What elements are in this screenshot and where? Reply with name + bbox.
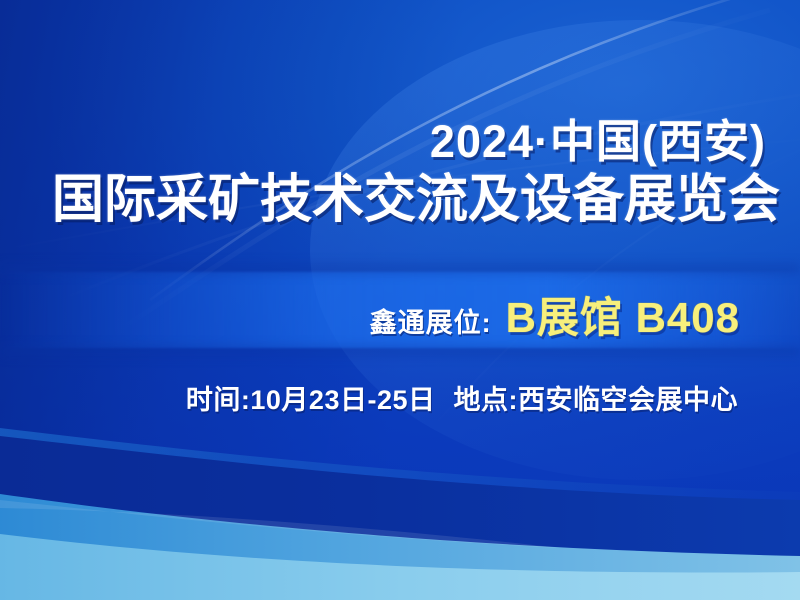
page-title-line-1: 2024·中国(西安)	[430, 118, 766, 165]
booth-label: 鑫通展位:	[370, 301, 492, 340]
exhibition-poster: 2024·中国(西安) 国际采矿技术交流及设备展览会 鑫通展位: B展馆 B40…	[0, 0, 800, 600]
event-venue: 地点:西安临空会展中心	[454, 378, 739, 417]
event-date: 时间:10月23日-25日	[186, 378, 436, 417]
event-meta-row: 时间:10月23日-25日 地点:西安临空会展中心	[186, 378, 738, 417]
booth-number: B展馆 B408	[506, 284, 740, 345]
booth-row: 鑫通展位: B展馆 B408	[370, 284, 740, 345]
page-title-line-2: 国际采矿技术交流及设备展览会	[52, 173, 780, 228]
